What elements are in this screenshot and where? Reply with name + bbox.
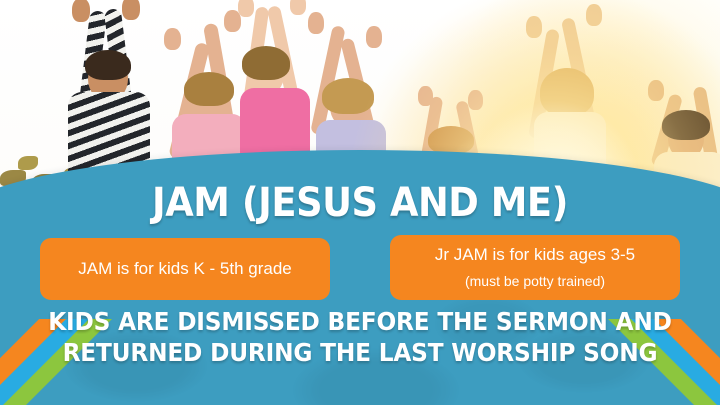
poster-canvas: JAM (JESUS AND ME) JAM is for kids K - 5… — [0, 0, 720, 405]
info-box-row: JAM is for kids K - 5th grade Jr JAM is … — [0, 232, 720, 304]
info-box-jr-jam-line2: (must be potty trained) — [465, 274, 605, 289]
info-box-jr-jam-line1: Jr JAM is for kids ages 3-5 — [435, 246, 635, 265]
info-box-jam: JAM is for kids K - 5th grade — [40, 238, 330, 300]
dismissal-text-line2: RETURNED DURING THE LAST WORSHIP SONG — [25, 338, 695, 369]
dismissal-text: KIDS ARE DISMISSED BEFORE THE SERMON AND… — [25, 307, 695, 368]
dismissal-text-line1: KIDS ARE DISMISSED BEFORE THE SERMON AND — [25, 307, 695, 338]
info-box-jr-jam: Jr JAM is for kids ages 3-5 (must be pot… — [390, 235, 680, 300]
info-box-jam-line1: JAM is for kids K - 5th grade — [78, 260, 292, 279]
poster-title: JAM (JESUS AND ME) — [29, 180, 691, 226]
